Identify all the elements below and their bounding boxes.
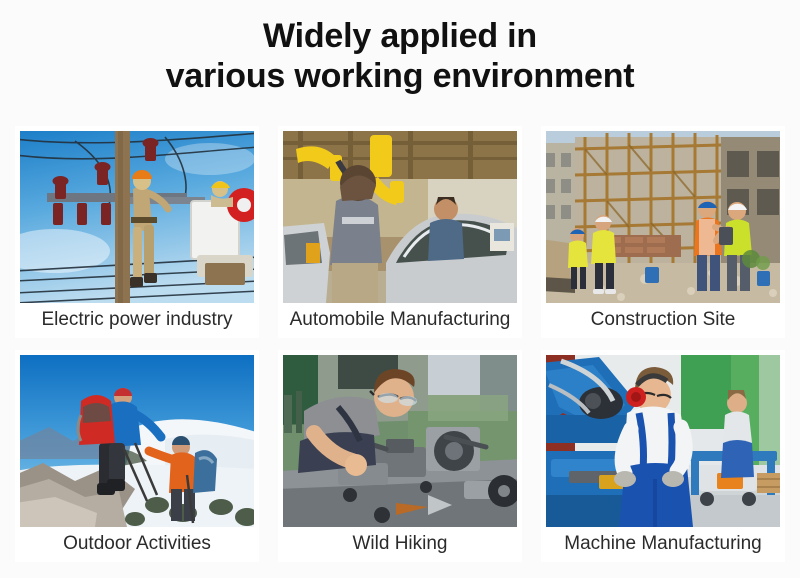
outdoor-activities-photo [20,355,254,527]
application-card[interactable]: Construction Site [541,126,785,338]
card-caption: Outdoor Activities [20,527,254,562]
wild-hiking-photo [283,355,517,527]
application-card[interactable]: Wild Hiking [278,350,522,562]
promo-page: Widely applied in various working enviro… [0,0,800,578]
card-caption: Automobile Manufacturing [283,303,517,338]
electric-power-industry-photo [20,131,254,303]
application-grid: Electric power industry [15,126,785,562]
page-title-line-2: various working environment [0,56,800,96]
construction-site-photo [546,131,780,303]
application-card[interactable]: Outdoor Activities [15,350,259,562]
page-title-line-1: Widely applied in [0,16,800,56]
machine-manufacturing-photo [546,355,780,527]
card-caption: Wild Hiking [283,527,517,562]
card-caption: Construction Site [546,303,780,338]
card-caption: Machine Manufacturing [546,527,780,562]
application-card[interactable]: Machine Manufacturing [541,350,785,562]
automobile-manufacturing-photo [283,131,517,303]
application-card[interactable]: Electric power industry [15,126,259,338]
page-title: Widely applied in various working enviro… [0,0,800,96]
application-card[interactable]: Automobile Manufacturing [278,126,522,338]
card-caption: Electric power industry [20,303,254,338]
